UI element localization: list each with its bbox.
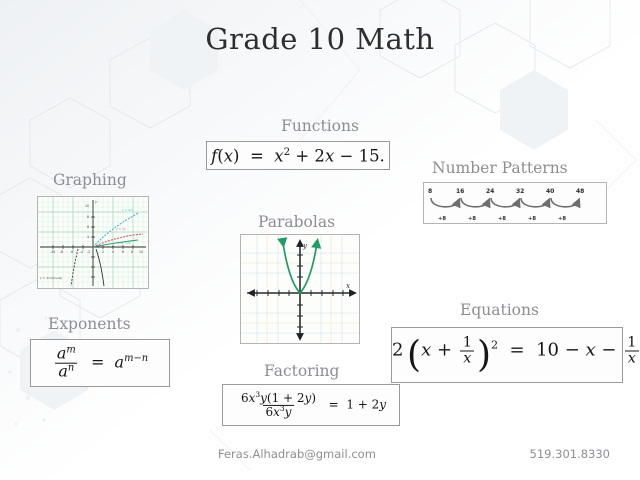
svg-text:y: y [95,200,97,204]
svg-text:8: 8 [131,250,133,254]
factoring-equation: 6x3y(1 + 2y) 6x3y = 1 + 2y [223,392,399,418]
svg-text:y = ½√x: y = ½√x [117,240,131,245]
svg-text:10: 10 [139,250,143,254]
section-label-functions: Functions [0,117,640,135]
pattern-step: +8 [468,216,476,222]
pattern-number: 40 [546,188,554,195]
section-label-graphing: Graphing [53,171,127,189]
section-label-number-patterns: Number Patterns [432,159,568,177]
parabolas-figure-card: y x [240,234,360,344]
svg-text:4: 4 [87,235,89,239]
pattern-number: 16 [456,188,464,195]
factoring-formula-card: 6x3y(1 + 2y) 6x3y = 1 + 2y [222,384,400,426]
svg-text:6: 6 [87,225,89,229]
parabola-x-axis-label: x [346,282,350,290]
equations-formula-card: 2 (x + 1x )2 = 10 − x − 1x [391,327,623,383]
equations-equation: 2 (x + 1x )2 = 10 − x − 1x [392,335,622,376]
functions-formula-card: f(x) = x2 + 2x − 15. [206,141,390,170]
svg-text:-2: -2 [87,250,90,254]
pattern-number: 32 [516,188,524,195]
page-title: Grade 10 Math [0,22,640,56]
svg-text:y = 3√x: y = 3√x [121,208,134,212]
pattern-number: 8 [428,188,432,195]
footer: Feras.Alhadrab@gmail.com 519.301.8330 [0,447,640,465]
exponents-formula-card: am an = am−n [30,339,170,387]
footer-email[interactable]: Feras.Alhadrab@gmail.com [218,447,376,461]
functions-equation: f(x) = x2 + 2x − 15. [207,146,389,165]
section-label-factoring: Factoring [264,362,339,380]
parabolas-chart: y x [241,235,359,343]
number-patterns-card: 8 16 24 32 40 48 +8 +8 +8 +8 +8 [423,182,607,224]
pattern-number: 48 [576,188,584,195]
pattern-step: +8 [438,216,446,222]
section-label-exponents: Exponents [48,315,131,333]
svg-text:-10: -10 [50,250,55,254]
exponents-equation: am an = am−n [31,346,169,381]
footer-phone[interactable]: 519.301.8330 [530,447,610,461]
svg-text:4: 4 [112,250,114,254]
svg-text:-4: -4 [80,250,83,254]
section-label-equations: Equations [460,301,539,319]
pattern-step: +8 [528,216,536,222]
pattern-step: +8 [498,216,506,222]
pattern-number: 24 [486,188,494,195]
svg-text:2: 2 [102,250,104,254]
graphing-chart: -10-8 -6-4 -22 46 810 108 64 y y = 3√x y… [38,197,148,288]
svg-text:8: 8 [87,215,89,219]
svg-text:y = -3√(2(x+4)): y = -3√(2(x+4)) [39,276,62,280]
section-label-parabolas: Parabolas [258,213,335,231]
svg-text:-6: -6 [70,250,73,254]
graphing-figure-card: -10-8 -6-4 -22 46 810 108 64 y y = 3√x y… [37,196,149,289]
svg-text:10: 10 [85,204,89,208]
pattern-step: +8 [558,216,566,222]
svg-text:y = √x: y = √x [115,227,126,231]
svg-text:6: 6 [122,250,124,254]
number-patterns-diagram: 8 16 24 32 40 48 +8 +8 +8 +8 +8 [424,183,606,223]
svg-text:-8: -8 [60,250,63,254]
